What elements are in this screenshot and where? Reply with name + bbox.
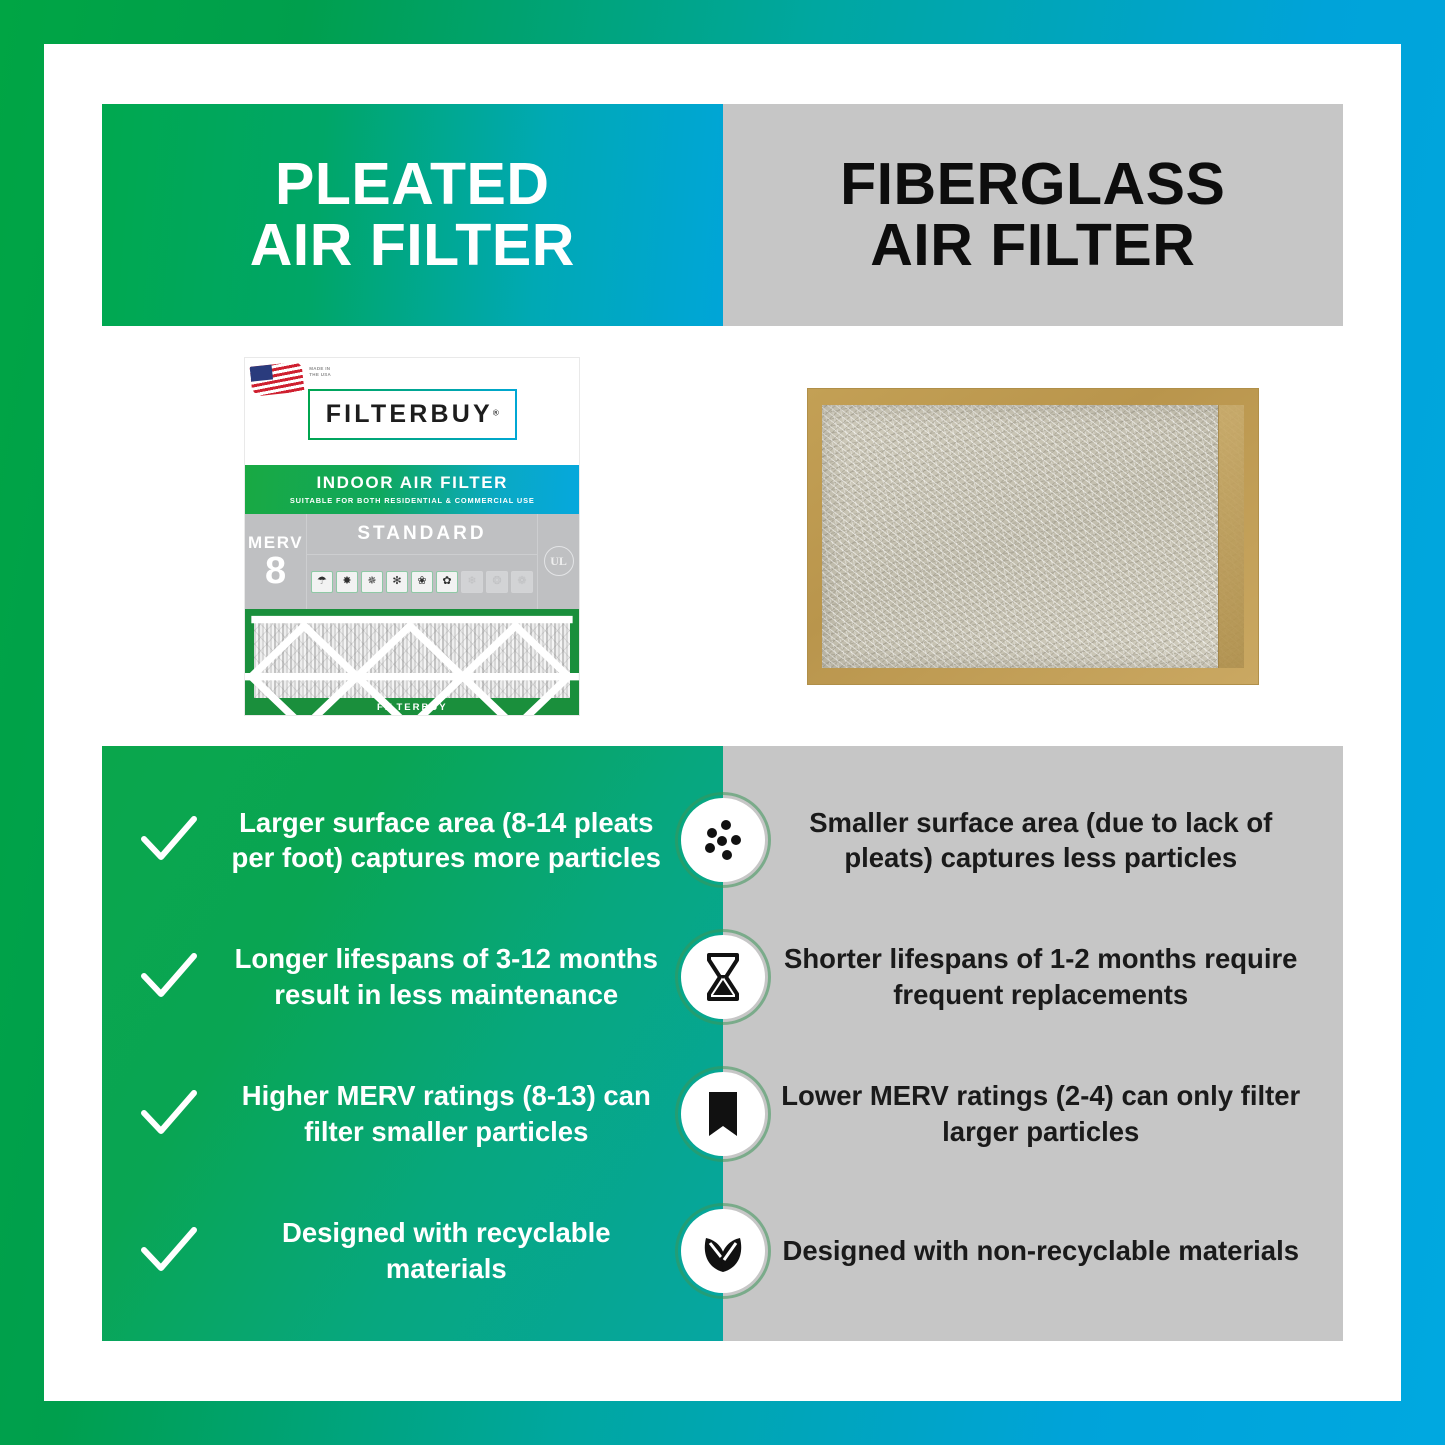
white-inner-frame: PLEATED AIR FILTER FIBERGLASS AIR FILTER: [44, 44, 1401, 1401]
package-band-title: INDOOR AIR FILTER: [316, 473, 508, 493]
ul-certification-block: UL: [537, 514, 579, 609]
mold-icon: ✵: [361, 571, 383, 593]
leaf-glyph: [694, 1224, 752, 1278]
pleated-media-section: FILTERBUY: [245, 609, 579, 715]
header-pleated-line2: AIR FILTER: [250, 212, 575, 278]
comparison-row-fiberglass: Lower MERV ratings (2-4) can only filter…: [723, 1078, 1344, 1150]
comparison-row-fiberglass: Designed with non-recyclable materials: [723, 1233, 1344, 1269]
usa-flag-icon: [250, 361, 305, 396]
virus-icon: ❁: [511, 571, 533, 593]
comparison-row-fiberglass-text: Smaller surface area (due to lack of ple…: [775, 805, 1308, 877]
header-fiberglass-line1: FIBERGLASS: [840, 151, 1225, 217]
made-in-line2: THE USA: [309, 372, 331, 377]
comparison-row-fiberglass-text: Designed with non-recyclable materials: [775, 1233, 1308, 1269]
package-spec-row: MERV 8 STANDARD ☂ ✸ ✵ ✻ ❀: [245, 514, 579, 609]
comparison-section: Larger surface area (8-14 pleats per foo…: [102, 746, 1343, 1341]
header-fiberglass: FIBERGLASS AIR FILTER: [723, 104, 1344, 326]
comparison-row-fiberglass: Shorter lifespans of 1-2 months require …: [723, 941, 1344, 1013]
bacteria-icon: ❀: [411, 571, 433, 593]
ul-certification-icon: UL: [544, 546, 574, 576]
check-icon: [138, 946, 200, 1008]
comparison-row-fiberglass-text: Lower MERV ratings (2-4) can only filter…: [775, 1078, 1308, 1150]
check-icon: [138, 1220, 200, 1282]
package-footer-brand: FILTERBUY: [245, 702, 579, 713]
cardboard-frame-seam: [1218, 405, 1244, 668]
comparison-rows: Larger surface area (8-14 pleats per foo…: [102, 746, 1343, 1341]
merv-rating-block: MERV 8: [245, 514, 307, 609]
grade-label: STANDARD: [307, 514, 537, 555]
package-band-subtitle: SUITABLE FOR BOTH RESIDENTIAL & COMMERCI…: [290, 496, 535, 505]
header-pleated: PLEATED AIR FILTER: [102, 104, 723, 326]
comparison-row: Longer lifespans of 3-12 months result i…: [102, 909, 1343, 1046]
outer-gradient-frame: PLEATED AIR FILTER FIBERGLASS AIR FILTER: [0, 0, 1445, 1445]
filterbuy-wordmark: FILTERBUY: [326, 400, 493, 428]
particles-icon: [675, 792, 771, 888]
dust-lint-icon: ☂: [311, 571, 333, 593]
comparison-row-pleated-text: Designed with recyclable materials: [222, 1215, 671, 1287]
merv-value: 8: [265, 553, 286, 589]
product-cell-pleated: MADE IN THE USA FILTERBUY® INDOOR AIR FI…: [102, 326, 723, 746]
trademark-symbol: ®: [493, 408, 499, 417]
header-fiberglass-title: FIBERGLASS AIR FILTER: [840, 154, 1225, 276]
particles-glyph: [695, 812, 751, 868]
hourglass-glyph: [696, 949, 750, 1005]
comparison-row-pleated: Larger surface area (8-14 pleats per foo…: [102, 805, 723, 877]
pleat-texture: [254, 616, 570, 698]
comparison-row: Higher MERV ratings (8-13) can filter sm…: [102, 1046, 1343, 1183]
odor-icon: ❂: [486, 571, 508, 593]
product-image-band: MADE IN THE USA FILTERBUY® INDOOR AIR FI…: [102, 326, 1343, 746]
bookmark-glyph: [697, 1086, 749, 1142]
comparison-row-fiberglass-text: Shorter lifespans of 1-2 months require …: [775, 941, 1308, 1013]
comparison-row-pleated: Higher MERV ratings (8-13) can filter sm…: [102, 1078, 723, 1150]
pet-dander-icon: ✿: [436, 571, 458, 593]
header-pleated-title: PLEATED AIR FILTER: [250, 154, 575, 276]
filterbuy-logo: FILTERBUY®: [308, 389, 517, 440]
comparison-row-fiberglass: Smaller surface area (due to lack of ple…: [723, 805, 1344, 877]
package-color-band: INDOOR AIR FILTER SUITABLE FOR BOTH RESI…: [245, 465, 579, 514]
made-in-line1: MADE IN: [309, 366, 330, 371]
made-in-usa-label: MADE IN THE USA: [309, 366, 331, 380]
package-spec-middle: STANDARD ☂ ✸ ✵ ✻ ❀ ✿ ❄ ❂: [307, 514, 537, 609]
fiberglass-filter-product-image: [808, 389, 1258, 684]
check-icon: [138, 809, 200, 871]
comparison-row-pleated-text: Larger surface area (8-14 pleats per foo…: [222, 805, 671, 877]
comparison-row-pleated-text: Longer lifespans of 3-12 months result i…: [222, 941, 671, 1013]
comparison-row-pleated-text: Higher MERV ratings (8-13) can filter sm…: [222, 1078, 671, 1150]
comparison-row-pleated: Longer lifespans of 3-12 months result i…: [102, 941, 723, 1013]
product-cell-fiberglass: [723, 326, 1344, 746]
header-fiberglass-line2: AIR FILTER: [870, 212, 1195, 278]
benefit-icon-row: ☂ ✸ ✵ ✻ ❀ ✿ ❄ ❂ ❁: [307, 555, 537, 609]
header-band: PLEATED AIR FILTER FIBERGLASS AIR FILTER: [102, 104, 1343, 326]
check-icon: [138, 1083, 200, 1145]
package-top-section: MADE IN THE USA FILTERBUY®: [245, 358, 579, 465]
pollen-icon: ✸: [336, 571, 358, 593]
comparison-row: Designed with recyclable materials: [102, 1182, 1343, 1319]
smoke-icon: ❄: [461, 571, 483, 593]
comparison-row-pleated: Designed with recyclable materials: [102, 1215, 723, 1287]
fiberglass-media-texture: [822, 405, 1244, 668]
mites-icon: ✻: [386, 571, 408, 593]
comparison-row: Larger surface area (8-14 pleats per foo…: [102, 772, 1343, 909]
pleated-filter-product-image: MADE IN THE USA FILTERBUY® INDOOR AIR FI…: [245, 358, 579, 715]
bookmark-icon: [675, 1066, 771, 1162]
header-pleated-line1: PLEATED: [275, 151, 549, 217]
leaf-icon: [675, 1203, 771, 1299]
comparison-card: PLEATED AIR FILTER FIBERGLASS AIR FILTER: [102, 104, 1343, 1341]
hourglass-icon: [675, 929, 771, 1025]
